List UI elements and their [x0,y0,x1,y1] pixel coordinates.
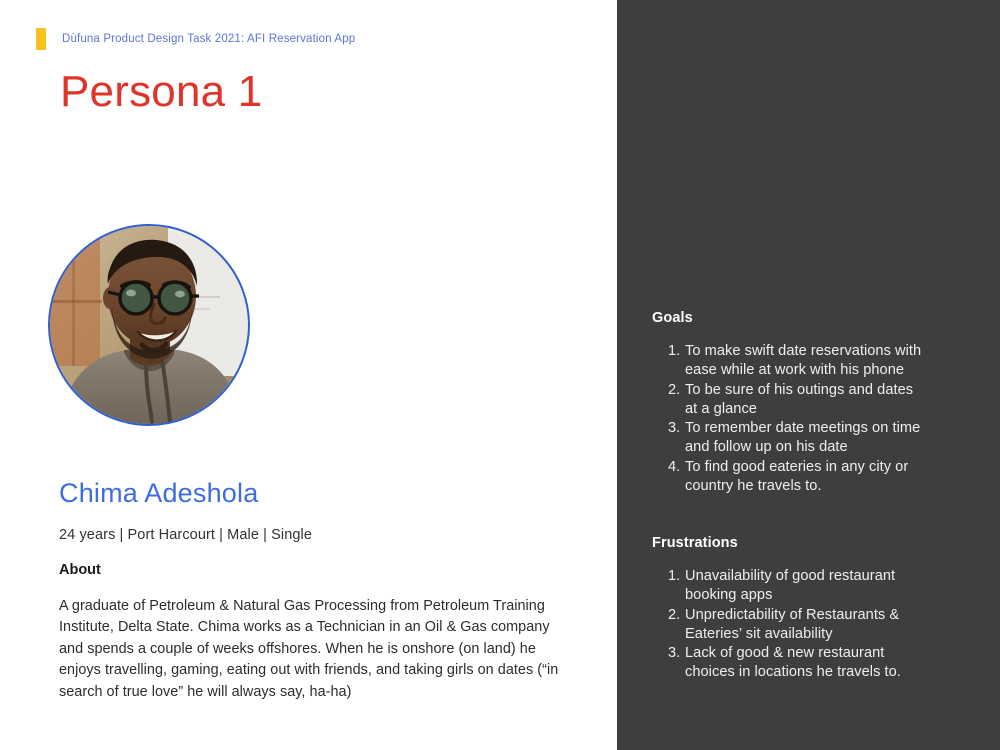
about-heading: About [59,562,101,578]
about-body: A graduate of Petroleum & Natural Gas Pr… [59,596,559,703]
persona-slide: Dùfuna Product Design Task 2021: AFI Res… [0,0,1000,750]
goal-item-text: To be sure of his outings and dates at a… [685,381,925,420]
frustration-item: 1.Unavailability of good restaurant book… [652,567,972,606]
left-content-pane: Dùfuna Product Design Task 2021: AFI Res… [0,0,617,750]
person-meta: 24 years | Port Harcourt | Male | Single [59,527,312,543]
frustration-item-text: Unpredictability of Restaurants & Eateri… [685,606,925,645]
page-title: Persona 1 [60,68,262,116]
goal-item: 2.To be sure of his outings and dates at… [652,381,972,420]
frustration-item-number: 1. [652,567,685,606]
frustration-item-number: 2. [652,606,685,645]
frustrations-heading: Frustrations [652,535,972,551]
project-title-label: Dùfuna Product Design Task 2021: AFI Res… [62,33,355,45]
avatar-photo [50,226,248,424]
goal-item-text: To remember date meetings on time and fo… [685,419,925,458]
avatar [48,224,250,426]
slide-header: Dùfuna Product Design Task 2021: AFI Res… [36,28,355,50]
goal-item-number: 3. [652,419,685,458]
frustration-item: 3.Lack of good & new restaurant choices … [652,644,972,683]
goals-section: Goals 1.To make swift date reservations … [652,310,972,496]
goal-item-text: To find good eateries in any city or cou… [685,458,925,497]
frustration-item-text: Unavailability of good restaurant bookin… [685,567,925,606]
person-name: Chima Adeshola [59,478,258,509]
frustrations-list: 1.Unavailability of good restaurant book… [652,567,972,683]
frustration-item: 2.Unpredictability of Restaurants & Eate… [652,606,972,645]
goals-heading: Goals [652,310,972,326]
portrait-illustration-icon [50,226,248,424]
accent-bar-icon [36,28,46,50]
goals-list: 1.To make swift date reservations with e… [652,342,972,496]
goal-item: 3.To remember date meetings on time and … [652,419,972,458]
frustration-item-number: 3. [652,644,685,683]
frustration-item-text: Lack of good & new restaurant choices in… [685,644,925,683]
goal-item-text: To make swift date reservations with eas… [685,342,925,381]
sidebar-pane: Goals 1.To make swift date reservations … [617,0,1000,750]
frustrations-section: Frustrations 1.Unavailability of good re… [652,535,972,683]
goal-item-number: 1. [652,342,685,381]
goal-item-number: 2. [652,381,685,420]
goal-item: 4.To find good eateries in any city or c… [652,458,972,497]
goal-item: 1.To make swift date reservations with e… [652,342,972,381]
goal-item-number: 4. [652,458,685,497]
